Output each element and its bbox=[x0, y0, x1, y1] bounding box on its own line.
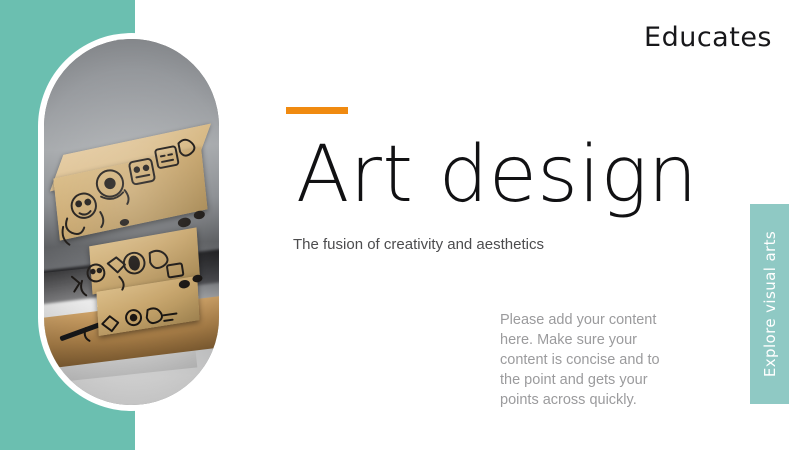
side-tab[interactable]: Explore visual arts bbox=[750, 204, 789, 404]
slide-canvas: Educates Art design The fusion of creati… bbox=[0, 0, 799, 450]
feature-image bbox=[44, 39, 219, 405]
brand-title: Educates bbox=[644, 22, 772, 53]
side-tab-label: Explore visual arts bbox=[761, 231, 779, 377]
orange-accent-rule bbox=[286, 107, 348, 114]
page-subtitle: The fusion of creativity and aesthetics bbox=[293, 236, 544, 253]
page-title: Art design bbox=[296, 133, 698, 217]
photo-vignette bbox=[44, 39, 219, 405]
feature-image-frame bbox=[38, 33, 225, 411]
body-paragraph: Please add your content here. Make sure … bbox=[500, 310, 682, 410]
